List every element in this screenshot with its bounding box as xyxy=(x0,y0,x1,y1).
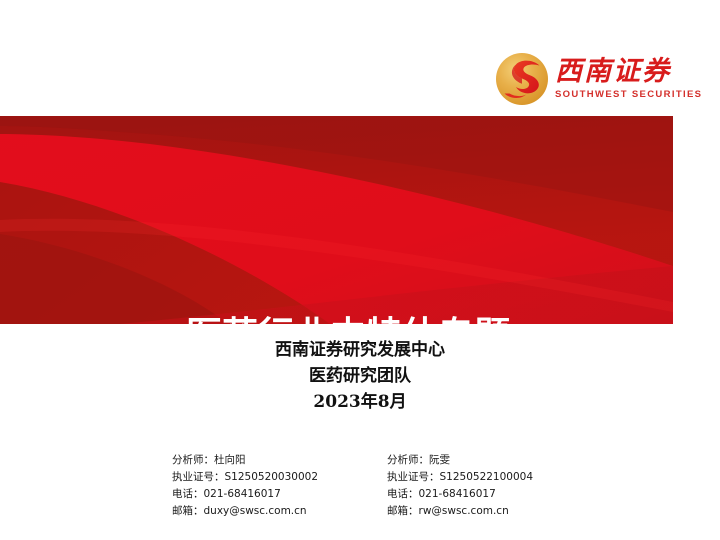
logo-chinese-name: 西南证券 xyxy=(555,58,702,86)
research-team-name: 医药研究团队 xyxy=(0,363,720,389)
analyst-name: 分析师：杜向阳 xyxy=(172,452,387,469)
logo-english-name: SOUTHWEST SECURITIES xyxy=(555,89,702,100)
page-title: 医药行业中特估专题 xyxy=(186,314,510,324)
title-banner: 医药行业中特估专题 xyxy=(0,116,673,324)
analyst-email: 邮箱：rw@swsc.com.cn xyxy=(387,503,602,520)
analyst-license-number: 执业证号：S1250520030002 xyxy=(172,469,387,486)
center-info-block: 西南证券研究发展中心 医药研究团队 2023年8月 xyxy=(0,337,720,415)
banner-background-shapes xyxy=(0,116,673,324)
swsc-sphere-logo-icon xyxy=(495,52,549,106)
analyst-column-secondary: 分析师：阮雯 执业证号：S1250522100004 电话：021-684160… xyxy=(387,452,602,520)
company-logo: 西南证券 SOUTHWEST SECURITIES xyxy=(495,48,690,110)
analyst-phone: 电话：021-68416017 xyxy=(387,486,602,503)
analyst-license-number: 执业证号：S1250522100004 xyxy=(387,469,602,486)
analyst-column-primary: 分析师：杜向阳 执业证号：S1250520030002 电话：021-68416… xyxy=(172,452,387,520)
analyst-name: 分析师：阮雯 xyxy=(387,452,602,469)
analyst-email: 邮箱：duxy@swsc.com.cn xyxy=(172,503,387,520)
presentation-title-slide: 西南证券 SOUTHWEST SECURITIES xyxy=(0,0,720,540)
analyst-contact-section: 分析师：杜向阳 执业证号：S1250520030002 电话：021-68416… xyxy=(172,452,642,520)
publication-date: 2023年8月 xyxy=(0,389,720,415)
research-center-name: 西南证券研究发展中心 xyxy=(0,337,720,363)
logo-text-group: 西南证券 SOUTHWEST SECURITIES xyxy=(555,58,702,99)
analyst-phone: 电话：021-68416017 xyxy=(172,486,387,503)
